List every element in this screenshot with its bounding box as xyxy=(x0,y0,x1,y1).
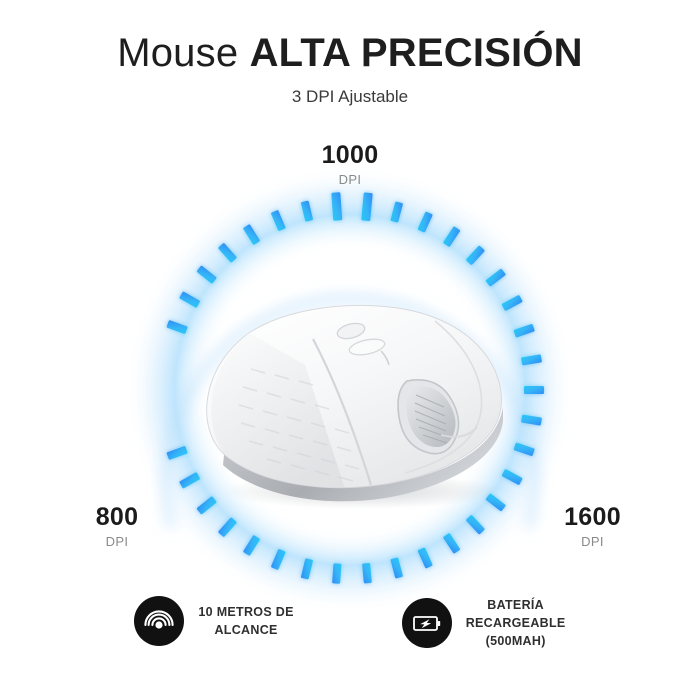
gauge-tick xyxy=(361,192,373,221)
dpi-value-1000: 1000 xyxy=(280,143,420,168)
gauge-tick-glow xyxy=(218,517,237,537)
dpi-label-1000: 1000 DPI xyxy=(280,143,420,186)
gauge-tick-glow xyxy=(513,442,535,456)
gauge-tick xyxy=(166,446,188,460)
mouse-shadow xyxy=(221,473,501,509)
product-image-mouse xyxy=(185,295,515,510)
mouse-shell xyxy=(207,305,502,487)
gauge-tick-glow xyxy=(271,210,286,232)
gauge-tick-glow xyxy=(390,557,403,578)
gauge-tick-glow xyxy=(501,469,522,486)
gauge-tick-glow xyxy=(501,295,522,312)
gauge-tick-glow xyxy=(196,265,217,284)
feature-range-text: 10 METROS DE ALCANCE xyxy=(198,603,293,639)
gauge-tick xyxy=(521,354,542,365)
wireless-signal-icon xyxy=(134,596,184,646)
gauge-tick-glow xyxy=(390,201,403,222)
gauge-tick xyxy=(521,415,542,426)
gauge-tick-glow xyxy=(332,563,341,584)
gauge-tick xyxy=(501,469,522,486)
page-title-light: Mouse xyxy=(117,31,249,75)
dpi-unit-800: DPI xyxy=(62,535,172,548)
gauge-tick-glow xyxy=(243,224,260,245)
dpi-value-800: 800 xyxy=(62,505,172,530)
gauge-tick xyxy=(196,496,217,515)
gauge-tick xyxy=(301,200,313,221)
feature-battery-line-1: BATERÍA xyxy=(466,596,566,614)
gauge-tick-glow xyxy=(466,515,485,535)
mouse-illustration xyxy=(185,295,515,510)
gauge-tick-glow xyxy=(361,192,373,221)
gauge-tick-glow xyxy=(521,354,542,365)
gauge-tick-glow xyxy=(524,386,544,394)
gauge-tick xyxy=(243,224,260,245)
gauge-tick xyxy=(243,535,260,556)
feature-battery: BATERÍA RECARGEABLE (500MAH) xyxy=(402,596,566,650)
gauge-glow xyxy=(125,165,575,615)
gauge-tick xyxy=(301,558,313,579)
page-title: Mouse ALTA PRECISIÓN xyxy=(0,0,700,76)
gauge-tick-glow xyxy=(521,415,542,426)
gauge-tick-glow xyxy=(166,320,188,334)
gauge-tick-glow xyxy=(331,192,342,221)
gauge-tick-glow xyxy=(179,472,200,489)
dpi-unit-1000: DPI xyxy=(280,173,420,186)
mouse-dpi-button xyxy=(336,321,389,365)
feature-list: 10 METROS DE ALCANCE BATERÍA RECARGEABLE… xyxy=(0,596,700,650)
feature-range-line-1: 10 METROS DE xyxy=(198,603,293,621)
dpi-value-1600: 1600 xyxy=(530,505,655,530)
feature-battery-text: BATERÍA RECARGEABLE (500MAH) xyxy=(466,596,566,650)
gauge-tick xyxy=(466,515,485,535)
gauge-tick-glow xyxy=(466,245,485,265)
mouse-scroll-wheel xyxy=(398,380,459,454)
gauge-tick-glow xyxy=(417,211,432,233)
gauge-guide-arc xyxy=(166,298,534,525)
gauge-tick-glow xyxy=(485,268,506,287)
gauge-tick-glow xyxy=(196,496,217,515)
gauge-tick xyxy=(271,210,286,232)
gauge-tick xyxy=(417,211,432,233)
gauge-tick xyxy=(271,549,286,571)
gauge-tick xyxy=(218,517,237,537)
dpi-unit-1600: DPI xyxy=(530,535,655,548)
gauge-tick-glow xyxy=(243,535,260,556)
gauge-tick xyxy=(466,245,485,265)
rechargeable-battery-icon xyxy=(402,598,452,648)
header: Mouse ALTA PRECISIÓN 3 DPI Ajustable xyxy=(0,0,700,107)
feature-range: 10 METROS DE ALCANCE xyxy=(134,596,293,646)
gauge-tick-glow xyxy=(271,549,286,571)
gauge-tick xyxy=(443,226,461,247)
mouse-base xyxy=(223,407,503,501)
gauge-tick xyxy=(166,320,188,334)
gauge-tick xyxy=(443,533,461,554)
gauge-tick xyxy=(179,291,200,308)
gauge-tick xyxy=(390,557,403,578)
gauge-tick xyxy=(362,563,372,584)
gauge-tick xyxy=(331,192,342,221)
gauge-tick-glow xyxy=(218,243,237,263)
gauge-tick xyxy=(179,472,200,489)
page-subtitle: 3 DPI Ajustable xyxy=(0,76,700,107)
feature-range-line-2: ALCANCE xyxy=(198,621,293,639)
gauge-tick xyxy=(390,201,403,222)
feature-battery-line-3: (500MAH) xyxy=(466,632,566,650)
mouse-button-split xyxy=(313,339,371,485)
gauge-tick-glow xyxy=(362,563,372,584)
gauge-tick-glow xyxy=(417,547,432,569)
gauge-tick xyxy=(485,268,506,287)
gauge-tick xyxy=(417,547,432,569)
dpi-label-1600: 1600 DPI xyxy=(530,505,655,548)
page-title-bold: ALTA PRECISIÓN xyxy=(250,31,583,75)
gauge-tick-glow xyxy=(485,493,506,512)
gauge-tick xyxy=(513,324,535,338)
mouse-details xyxy=(211,321,481,490)
gauge-tick xyxy=(485,493,506,512)
gauge-tick-glow xyxy=(301,558,313,579)
gauge-tick-glow xyxy=(443,533,461,554)
gauge-tick-glow xyxy=(166,446,188,460)
mouse-grip-texture xyxy=(239,369,359,481)
gauge-ticks xyxy=(166,192,544,584)
gauge-tick-glow xyxy=(513,324,535,338)
gauge-tick xyxy=(501,295,522,312)
gauge-tick xyxy=(524,386,544,394)
feature-battery-line-2: RECARGEABLE xyxy=(466,614,566,632)
gauge-tick xyxy=(196,265,217,284)
gauge-tick xyxy=(218,243,237,263)
gauge-tick-glow xyxy=(179,291,200,308)
gauge-tick xyxy=(332,563,341,584)
gauge-tick-glow xyxy=(443,226,461,247)
gauge-tick-glow xyxy=(301,200,313,221)
gauge-tick xyxy=(513,442,535,456)
dpi-label-800: 800 DPI xyxy=(62,505,172,548)
